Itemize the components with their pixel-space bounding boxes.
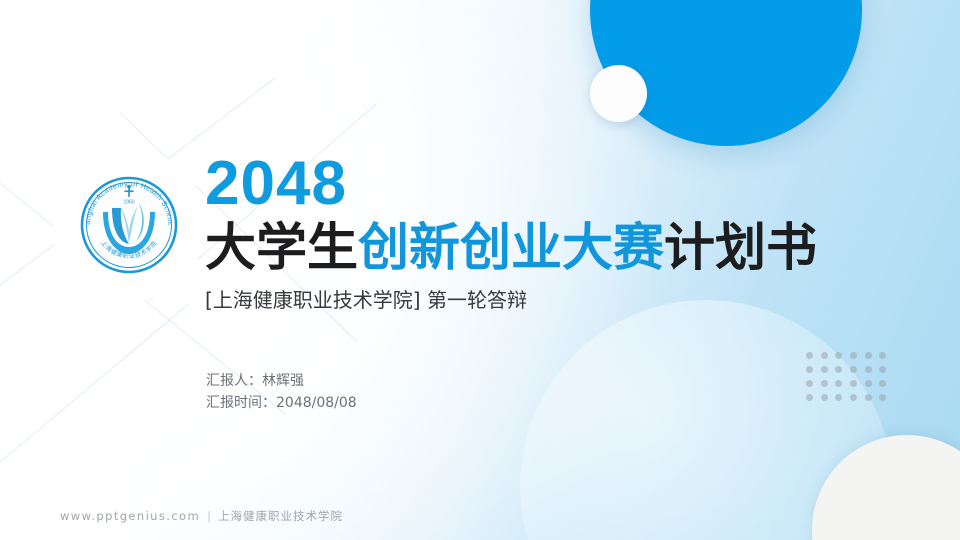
footer-separator: | xyxy=(207,509,211,523)
title-segment-2: 计划书 xyxy=(664,219,817,278)
grid-dot xyxy=(865,352,872,359)
grid-dot xyxy=(850,352,857,359)
grid-dot xyxy=(821,394,828,401)
white-dot-decoration xyxy=(590,65,647,122)
grid-dot xyxy=(835,352,842,359)
grid-dot xyxy=(850,394,857,401)
title-segment-1: 创新创业大赛 xyxy=(358,219,664,278)
grid-dot xyxy=(850,380,857,387)
grid-dot xyxy=(821,366,828,373)
grid-dot xyxy=(879,352,886,359)
grid-dot xyxy=(835,366,842,373)
presentation-date: 汇报时间：2048/08/08 xyxy=(206,392,357,414)
grid-dot xyxy=(821,380,828,387)
grid-dot xyxy=(806,352,813,359)
grid-dot xyxy=(806,366,813,373)
grid-dot xyxy=(806,394,813,401)
presentation-slide: Shanghai Academy of Health Sciences 上海健康… xyxy=(0,0,960,540)
grid-dot xyxy=(879,394,886,401)
presenter-meta: 汇报人：林辉强 汇报时间：2048/08/08 xyxy=(206,370,357,414)
grid-dot xyxy=(879,366,886,373)
headline-block: 2048 大学生创新创业大赛计划书 [上海健康职业技术学院] 第一轮答辩 xyxy=(205,152,905,313)
slide-year: 2048 xyxy=(205,152,905,216)
grid-dot xyxy=(850,366,857,373)
title-segment-0: 大学生 xyxy=(205,219,358,278)
footer: www.pptgenius.com | 上海健康职业技术学院 xyxy=(60,508,343,524)
footer-site: www.pptgenius.com xyxy=(60,509,200,523)
grid-dot xyxy=(865,380,872,387)
grid-dot xyxy=(835,394,842,401)
grid-dot xyxy=(865,394,872,401)
grid-dot xyxy=(806,380,813,387)
slide-subtitle: [上海健康职业技术学院] 第一轮答辩 xyxy=(205,287,905,313)
dot-grid-decoration xyxy=(806,352,894,408)
svg-text:1960: 1960 xyxy=(123,200,134,206)
presenter-name: 汇报人：林辉强 xyxy=(206,370,357,392)
grid-dot xyxy=(835,380,842,387)
grid-dot xyxy=(821,352,828,359)
decorative-hairline xyxy=(0,303,190,471)
footer-organization: 上海健康职业技术学院 xyxy=(218,508,343,524)
grid-dot xyxy=(865,366,872,373)
grid-dot xyxy=(879,380,886,387)
university-logo: Shanghai Academy of Health Sciences 上海健康… xyxy=(76,172,182,278)
slide-title: 大学生创新创业大赛计划书 xyxy=(205,220,905,278)
